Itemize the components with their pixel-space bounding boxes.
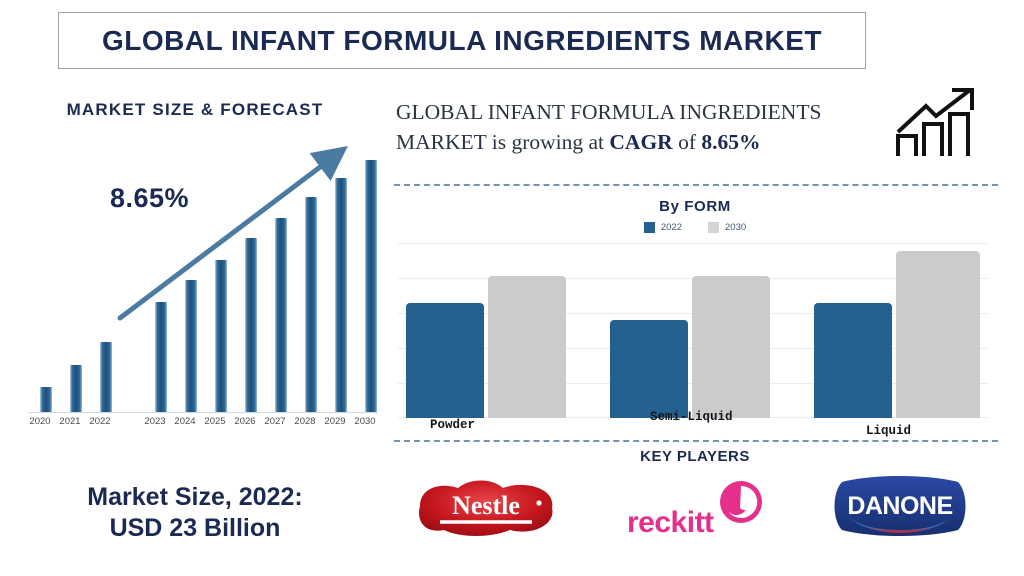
legend-item-2022: 2022 bbox=[644, 222, 682, 233]
legend-item-2030: 2030 bbox=[708, 222, 746, 233]
legend-swatch-2030 bbox=[708, 222, 719, 233]
by-form-category-labels: Powder Semi-Liquid Liquid bbox=[398, 410, 988, 440]
market-size-callout: Market Size, 2022: USD 23 Billion bbox=[0, 482, 390, 543]
lede-cagr-value: 8.65% bbox=[701, 130, 760, 154]
legend-swatch-2022 bbox=[644, 222, 655, 233]
divider-bottom bbox=[394, 440, 998, 442]
reckitt-logo: reckitt bbox=[615, 474, 775, 540]
divider-top bbox=[394, 184, 998, 186]
bottom-cropped-text bbox=[395, 560, 815, 574]
by-form-title: By FORM bbox=[390, 198, 1000, 215]
bar-2025 bbox=[215, 260, 227, 412]
by-form-legend: 2022 2030 bbox=[390, 222, 1000, 233]
danone-logo-text: DANONE bbox=[847, 492, 952, 520]
page-title-box: GLOBAL INFANT FORMULA INGREDIENTS MARKET bbox=[58, 12, 866, 69]
page-title: GLOBAL INFANT FORMULA INGREDIENTS MARKET bbox=[102, 25, 822, 57]
year-label-2026: 2026 bbox=[231, 416, 259, 427]
bar-chart-growth-icon bbox=[892, 84, 988, 164]
legend-label-2022: 2022 bbox=[661, 222, 682, 233]
legend-label-2030: 2030 bbox=[725, 222, 746, 233]
lede-cagr-bold: CAGR bbox=[609, 130, 672, 154]
key-players-logos: Nestle reckitt bbox=[390, 472, 1010, 552]
bar-powder-2022 bbox=[406, 303, 484, 418]
market-size-bars bbox=[30, 160, 375, 412]
market-size-forecast-panel: MARKET SIZE & FORECAST 8.65% bbox=[0, 80, 390, 576]
key-players-title: KEY PLAYERS bbox=[390, 448, 1000, 465]
bar-2022 bbox=[100, 342, 112, 412]
bar-group-powder bbox=[402, 243, 592, 418]
category-label-powder: Powder bbox=[430, 418, 475, 432]
year-label-2022: 2022 bbox=[86, 416, 114, 427]
right-panel: GLOBAL INFANT FORMULA INGREDIENTS MARKET… bbox=[390, 80, 1024, 576]
year-label-2020: 2020 bbox=[26, 416, 54, 427]
infographic-page: GLOBAL INFANT FORMULA INGREDIENTS MARKET… bbox=[0, 0, 1024, 576]
market-size-forecast-heading: MARKET SIZE & FORECAST bbox=[0, 100, 390, 120]
market-summary-text: GLOBAL INFANT FORMULA INGREDIENTS MARKET… bbox=[396, 98, 901, 157]
bar-liquid-2022 bbox=[814, 303, 892, 418]
year-label-2027: 2027 bbox=[261, 416, 289, 427]
bar-2029 bbox=[335, 178, 347, 412]
danone-logo: DANONE bbox=[820, 474, 980, 538]
year-label-2024: 2024 bbox=[171, 416, 199, 427]
year-label-2028: 2028 bbox=[291, 416, 319, 427]
year-label-2023: 2023 bbox=[141, 416, 169, 427]
market-size-line-2: USD 23 Billion bbox=[0, 513, 390, 544]
market-size-line-1: Market Size, 2022: bbox=[0, 482, 390, 513]
reckitt-logo-text: reckitt bbox=[627, 506, 714, 539]
bar-2027 bbox=[275, 218, 287, 412]
bar-2023 bbox=[155, 302, 167, 412]
bar-2020 bbox=[40, 387, 52, 412]
bar-group-liquid bbox=[810, 243, 1000, 418]
bar-powder-2030 bbox=[488, 276, 566, 418]
bar-2021 bbox=[70, 365, 82, 412]
year-label-2025: 2025 bbox=[201, 416, 229, 427]
lede-part-2: of bbox=[673, 130, 702, 154]
bar-liquid-2030 bbox=[896, 251, 980, 418]
year-label-2029: 2029 bbox=[321, 416, 349, 427]
by-form-chart bbox=[398, 243, 988, 418]
category-label-liquid: Liquid bbox=[866, 424, 911, 438]
year-label-2021: 2021 bbox=[56, 416, 84, 427]
nestle-logo-text: Nestle bbox=[452, 491, 520, 520]
bar-2030 bbox=[365, 160, 377, 412]
bar-2024 bbox=[185, 280, 197, 412]
category-label-semi-liquid: Semi-Liquid bbox=[650, 410, 733, 424]
bar-group-semi-liquid bbox=[606, 243, 796, 418]
bar-semi-liquid-2022 bbox=[610, 320, 688, 418]
year-label-2030: 2030 bbox=[351, 416, 379, 427]
bar-semi-liquid-2030 bbox=[692, 276, 770, 418]
market-size-axis-line bbox=[28, 412, 378, 413]
market-size-year-labels: 2020 2021 2022 2023 2024 2025 2026 2027 … bbox=[0, 416, 390, 436]
nestle-logo: Nestle bbox=[406, 476, 566, 538]
bar-2028 bbox=[305, 197, 317, 412]
bar-2026 bbox=[245, 238, 257, 412]
